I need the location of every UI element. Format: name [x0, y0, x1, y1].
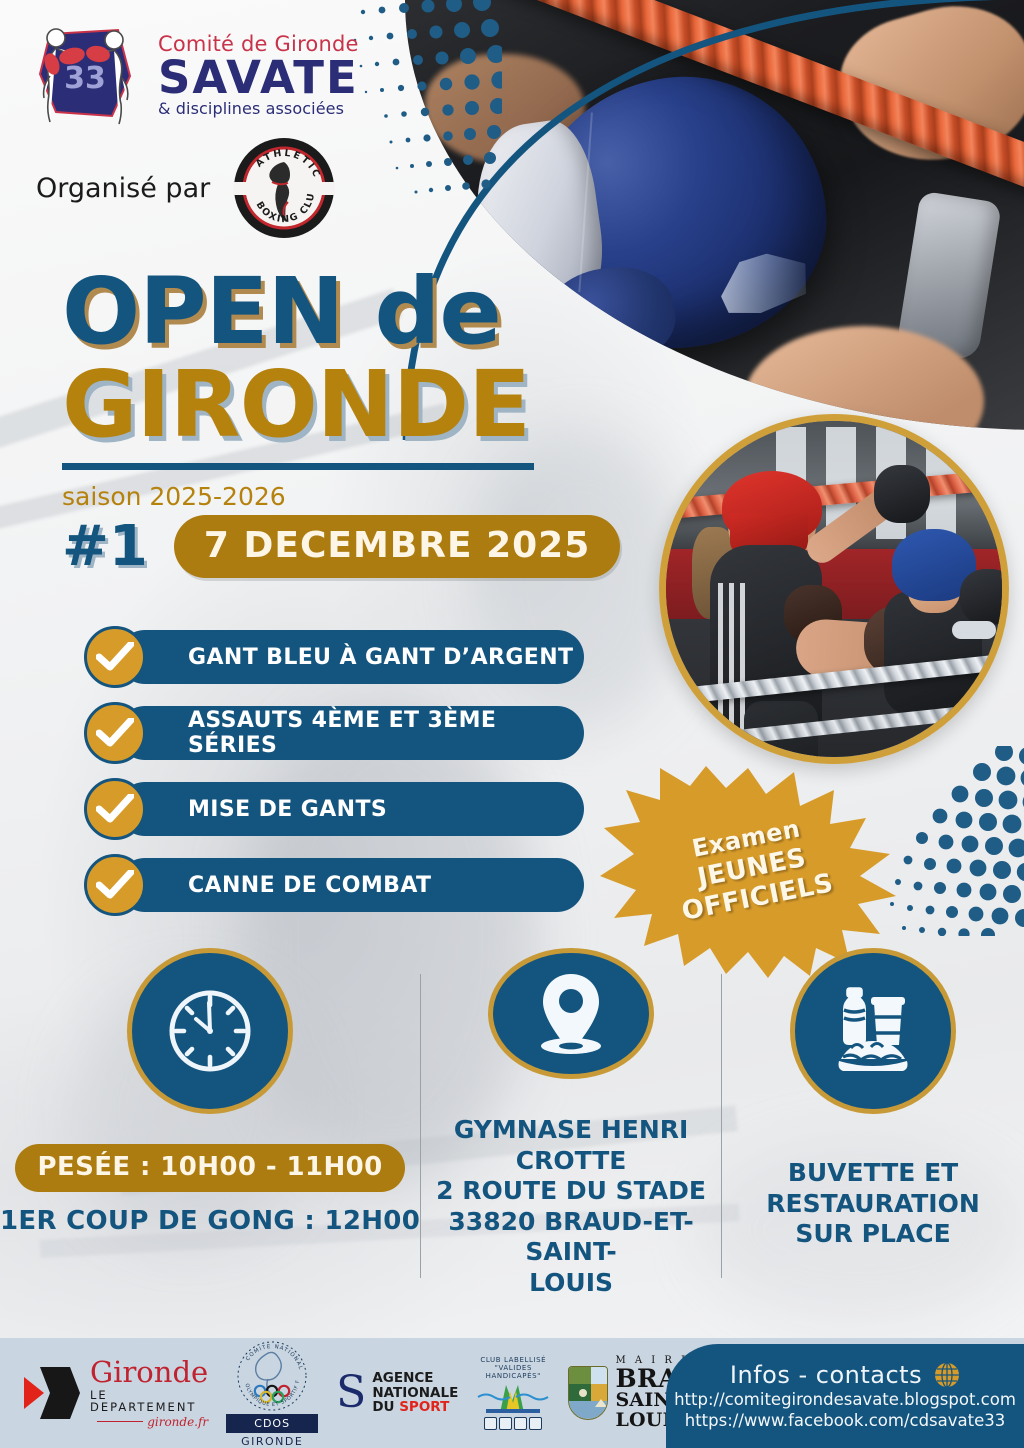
info-column-venue: GYMNASE HENRI CROTTE 2 ROUTE DU STADE 33…: [420, 948, 722, 1298]
venue-address: GYMNASE HENRI CROTTE 2 ROUTE DU STADE 33…: [431, 1115, 711, 1298]
dept-number-text: 33: [64, 61, 106, 96]
accessibility-icon: [484, 1417, 497, 1430]
check-icon: [84, 778, 146, 840]
gironde-logo: Gironde LE DEPARTEMENT gironde.fr: [22, 1358, 208, 1428]
savate-emblem-icon: 33: [26, 16, 144, 128]
ans-line-1: AGENCE: [372, 1371, 458, 1386]
venue-line: GYMNASE HENRI CROTTE: [431, 1115, 711, 1176]
refreshments-line: RESTAURATION: [766, 1189, 980, 1220]
contacts-panel: Infos - contacts http://comitegir: [666, 1344, 1024, 1448]
gironde-name: Gironde: [90, 1358, 208, 1387]
organized-by-label: Organisé par: [36, 173, 210, 204]
first-gong-label: 1ER COUP DE GONG : 12H00: [0, 1206, 420, 1236]
vh-mark-icon: [476, 1381, 550, 1415]
accessibility-icons: [476, 1417, 550, 1430]
partner-logos: Gironde LE DEPARTEMENT gironde.fr: [22, 1338, 672, 1448]
refreshments-text: BUVETTE ET RESTAURATION SUR PLACE: [766, 1158, 980, 1250]
accessibility-icon: [529, 1417, 542, 1430]
column-divider: [420, 974, 421, 1278]
globe-icon: [934, 1362, 960, 1388]
handi-arc-label: CLUB LABELLISÉ "VALIDES HANDICAPÉS": [476, 1356, 550, 1380]
check-icon: [84, 702, 146, 764]
valides-handicapes-logo: CLUB LABELLISÉ "VALIDES HANDICAPÉS": [476, 1356, 550, 1430]
checklist-item-label: GANT BLEU À GANT D’ARGENT: [188, 645, 573, 670]
poster: 33 Comité de Gironde SAVATE & discipline…: [0, 0, 1024, 1448]
accessibility-icon: [514, 1417, 527, 1430]
title-de-word: de: [375, 258, 501, 365]
venue-line: 33820 BRAUD-ET-SAINT-: [431, 1207, 711, 1268]
check-icon: [84, 626, 146, 688]
organized-by-row: Organisé par ATHLETIC: [36, 136, 336, 240]
edition-number: #1: [62, 519, 148, 575]
checklist-item: GANT BLEU À GANT D’ARGENT: [84, 626, 584, 688]
checklist-item-label: ASSAUTS 4ÈME ET 3ÈME SÉRIES: [188, 708, 584, 758]
cdos-logo: COMITE NATIONAL OLYMPIQUE ET SPORTIF FRA…: [226, 1339, 318, 1448]
blason-icon: [568, 1366, 608, 1420]
accessibility-icon: [499, 1417, 512, 1430]
cnosf-arc-top: COMITE NATIONAL: [245, 1343, 303, 1370]
clock-icon: [127, 948, 293, 1114]
cdos-badge: CDOS: [226, 1414, 318, 1433]
cnosf-rooster-icon: COMITE NATIONAL OLYMPIQUE ET SPORTIF FRA…: [235, 1339, 309, 1413]
info-columns: PESÉE : 10H00 - 11H00 1ER COUP DE GONG :…: [0, 948, 1024, 1298]
athletic-boxing-club-logo: ATHLETIC BOXING CLUB: [232, 136, 336, 240]
savate-combat-photo: [659, 414, 1009, 764]
ans-line-3b: SPORT: [399, 1399, 449, 1415]
refreshments-line: SUR PLACE: [766, 1219, 980, 1250]
cdos-region-label: GIRONDE: [226, 1435, 318, 1448]
venue-line: LOUIS: [431, 1268, 711, 1299]
season-label: saison 2025-2026: [62, 482, 622, 511]
map-pin-icon: [488, 948, 654, 1079]
jeunes-officiels-burst: Examen JEUNES OFFICIELS: [598, 766, 898, 978]
weigh-in-pill: PESÉE : 10H00 - 11H00: [15, 1144, 404, 1192]
checklist-item-label: MISE DE GANTS: [188, 797, 387, 822]
contacts-title: Infos - contacts: [730, 1361, 922, 1389]
gironde-url: gironde.fr: [147, 1415, 208, 1429]
event-date-pill: 7 DECEMBRE 2025: [174, 515, 620, 578]
checklist-item: MISE DE GANTS: [84, 778, 584, 840]
info-column-refreshments: BUVETTE ET RESTAURATION SUR PLACE: [722, 948, 1024, 1298]
title-block: OPEN de GIRONDE saison 2025-2026 #1 7 DE…: [62, 268, 622, 578]
contact-url-blog[interactable]: http://comitegirondesavate.blogspot.com: [674, 1389, 1016, 1410]
ans-line-3a: DU: [372, 1399, 399, 1415]
agence-nationale-du-sport-logo: S AGENCE NATIONALE DU SPORT: [336, 1371, 458, 1415]
check-icon: [84, 854, 146, 916]
checklist: GANT BLEU À GANT D’ARGENT ASSAUTS 4ÈME E…: [84, 626, 584, 930]
gironde-subtitle: LE DEPARTEMENT: [90, 1390, 208, 1413]
food-drink-icon: [790, 948, 956, 1114]
title-open-word: OPEN: [62, 258, 343, 365]
checklist-item: ASSAUTS 4ÈME ET 3ÈME SÉRIES: [84, 702, 584, 764]
logo-savate-line: SAVATE: [158, 56, 359, 99]
info-column-schedule: PESÉE : 10H00 - 11H00 1ER COUP DE GONG :…: [0, 948, 420, 1298]
title-line-open: OPEN de: [62, 268, 622, 355]
svg-text:COMITE NATIONAL: COMITE NATIONAL: [245, 1343, 303, 1370]
logo-disciplines-line: & disciplines associées: [158, 99, 359, 118]
savate-committee-logo: 33 Comité de Gironde SAVATE & discipline…: [26, 16, 359, 128]
footer: Gironde LE DEPARTEMENT gironde.fr: [0, 1338, 1024, 1448]
gironde-mark-icon: [22, 1365, 82, 1421]
title-line-gironde: GIRONDE: [62, 359, 622, 451]
contact-url-facebook[interactable]: https://www.facebook.com/cdsavate33: [685, 1410, 1006, 1431]
checklist-item-label: CANNE DE COMBAT: [188, 873, 431, 898]
ans-mark-icon: S: [336, 1375, 366, 1410]
checklist-item: CANNE DE COMBAT: [84, 854, 584, 916]
ans-line-2: NATIONALE: [372, 1386, 458, 1401]
refreshments-line: BUVETTE ET: [766, 1158, 980, 1189]
venue-line: 2 ROUTE DU STADE: [431, 1176, 711, 1207]
title-rule: [62, 463, 534, 470]
